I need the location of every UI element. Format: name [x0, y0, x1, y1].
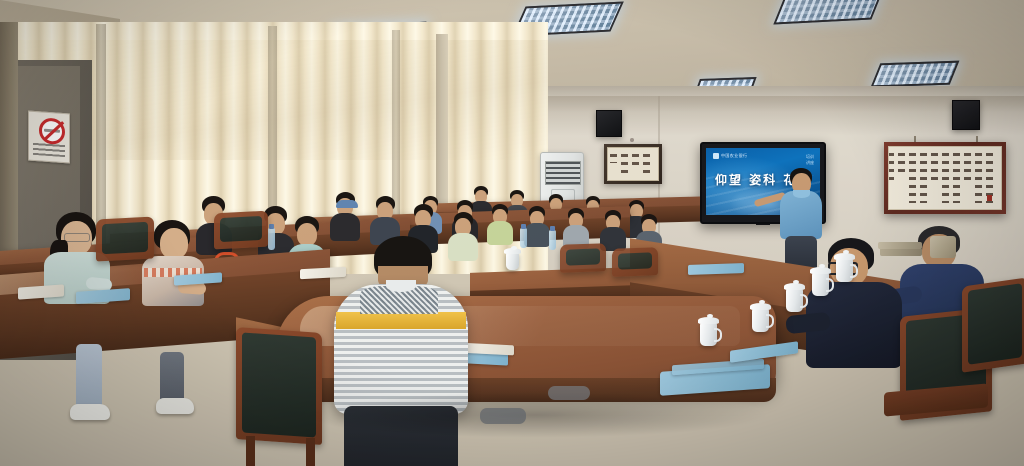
logo-mark-icon [713, 153, 719, 159]
chair-upholstery [566, 248, 600, 265]
polo-yellow-band [336, 312, 466, 329]
book-stack [878, 242, 922, 249]
attendee-head [297, 223, 317, 246]
lidded-teacup [786, 288, 803, 312]
slide-corner-text: 培训 讲座 [806, 154, 814, 166]
classroom-chair[interactable] [612, 247, 658, 277]
lidded-teacup [752, 308, 769, 332]
chair-leg [306, 438, 315, 466]
presenter-torso [780, 191, 822, 239]
water-bottle [268, 228, 275, 250]
window-frame-post [0, 22, 18, 274]
attendee-torso [487, 221, 513, 245]
calligraphy-frame-small [604, 144, 662, 184]
presenter-collar [793, 190, 810, 198]
air-vent-slats [545, 161, 581, 185]
baseball-cap-icon [336, 200, 358, 208]
lidded-teacup [700, 322, 717, 346]
conference-room-photo: 中国农业银行 仰望 姿科 花梦 培训 讲座 [0, 0, 1024, 466]
classroom-chair[interactable] [214, 211, 268, 250]
chair-upholstery [102, 222, 148, 254]
chair-upholstery [968, 283, 1022, 365]
attendee [487, 204, 513, 238]
frame-nail [630, 138, 634, 142]
sneaker [156, 398, 194, 414]
chair-upholstery [220, 216, 262, 242]
conference-chair[interactable] [236, 327, 322, 445]
shoe [548, 386, 590, 400]
frame-mat [607, 147, 659, 181]
slide-logo-text: 中国农业银行 [721, 153, 747, 159]
chair-leg [246, 436, 255, 466]
table-floor-shadow [300, 392, 770, 438]
attendee-torso [524, 223, 550, 247]
calligraphy-strokes [616, 154, 650, 174]
water-bottle [549, 230, 556, 250]
ceiling-light-panel [871, 61, 960, 88]
chair-upholstery [618, 252, 652, 269]
folder [930, 236, 956, 258]
chair-upholstery [242, 332, 316, 437]
attendee [563, 208, 589, 242]
wall-speaker-right [952, 100, 980, 130]
no-smoking-sign-text [33, 141, 65, 157]
classroom-chair[interactable] [560, 243, 606, 273]
artist-seal [987, 195, 992, 201]
polo-collar [386, 280, 416, 292]
sneaker [70, 404, 110, 420]
student-head [160, 228, 188, 259]
no-smoking-sign [28, 111, 70, 164]
classroom-chair[interactable] [96, 216, 154, 261]
attendee [600, 210, 626, 244]
lidded-teacup [836, 258, 853, 282]
glasses-icon [64, 233, 90, 242]
water-bottle [520, 228, 527, 248]
frame-mat [888, 146, 1002, 210]
conference-chair[interactable] [962, 277, 1024, 372]
lidded-teacup [506, 252, 519, 270]
attendee [524, 206, 550, 240]
attendee-with-cap [334, 198, 364, 238]
calligraphy-scroll-large [884, 142, 1006, 214]
attendee [370, 196, 400, 238]
training-booklet [688, 263, 744, 275]
wall-speaker-left [596, 110, 622, 137]
slide-logo: 中国农业银行 [713, 153, 747, 159]
book-stack [880, 248, 922, 256]
shoe [480, 408, 526, 424]
calligraphy-strokes [897, 153, 993, 203]
slide-corner-line-2: 讲座 [806, 160, 814, 166]
lidded-teacup [812, 272, 829, 296]
